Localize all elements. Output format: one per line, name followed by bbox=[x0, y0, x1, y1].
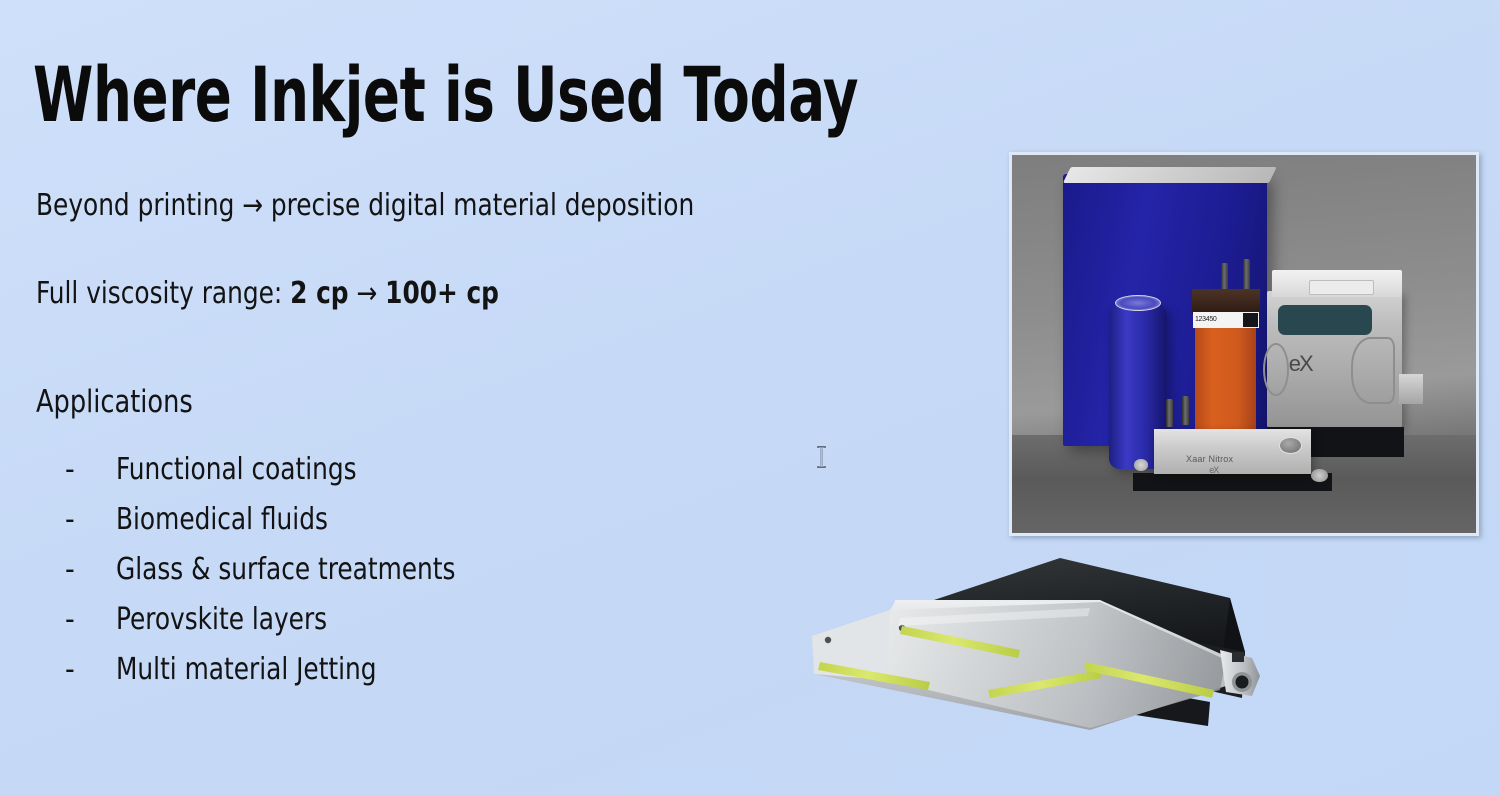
text-cursor-icon bbox=[817, 446, 826, 468]
list-item-label: Glass & surface treatments bbox=[116, 552, 455, 587]
viscosity-max-value: 100+ cp bbox=[385, 276, 499, 311]
bullet-dash: - bbox=[65, 602, 75, 637]
list-item-label: Functional coatings bbox=[116, 452, 357, 487]
viscosity-range-line: Full viscosity range: 2 cp → 100+ cp bbox=[36, 276, 499, 311]
slide-canvas: Where Inkjet is Used Today Beyond printi… bbox=[0, 0, 1500, 795]
printhead-svg bbox=[790, 540, 1300, 775]
viscosity-label: Full viscosity range: bbox=[36, 276, 290, 311]
housing-ex-logo: eX bbox=[1289, 351, 1312, 377]
silver-housing-part: eX bbox=[1267, 291, 1402, 427]
flex-serial-text: 123450 bbox=[1195, 316, 1217, 323]
base-bolt-right bbox=[1311, 469, 1328, 482]
printhead-left-hole bbox=[825, 637, 831, 643]
viscosity-arrow: → bbox=[349, 276, 386, 311]
blue-panel-top-edge bbox=[1063, 167, 1277, 183]
printhead-render bbox=[790, 540, 1300, 775]
nitrox-ex-logo: eX bbox=[1209, 465, 1218, 475]
housing-teal-panel bbox=[1278, 305, 1372, 335]
list-item-label: Perovskite layers bbox=[116, 602, 327, 637]
bullet-dash: - bbox=[65, 502, 75, 537]
product-photo: eX 123450 Xaar Nitrox eX bbox=[1009, 152, 1479, 536]
base-screw bbox=[1182, 396, 1189, 424]
cylinder-rim bbox=[1115, 295, 1161, 311]
applications-heading: Applications bbox=[36, 384, 193, 420]
flex-cap-top bbox=[1192, 289, 1260, 314]
nitrox-fluid-port bbox=[1279, 437, 1302, 454]
housing-arc-right bbox=[1351, 337, 1395, 404]
flex-pin bbox=[1243, 259, 1250, 293]
base-bolt-left bbox=[1134, 459, 1148, 470]
text-cursor bbox=[817, 446, 826, 468]
nitrox-black-base bbox=[1133, 473, 1333, 492]
bullet-dash: - bbox=[65, 552, 75, 587]
viscosity-min-value: 2 cp bbox=[290, 276, 348, 311]
bullet-dash: - bbox=[65, 652, 75, 687]
lead-statement: Beyond printing → precise digital materi… bbox=[36, 188, 694, 223]
nitrox-brand-text: Xaar Nitrox bbox=[1186, 454, 1233, 464]
photo-scene: eX 123450 Xaar Nitrox eX bbox=[1012, 155, 1476, 533]
page-title: Where Inkjet is Used Today bbox=[33, 57, 858, 133]
base-screw bbox=[1166, 399, 1173, 427]
bullet-dash: - bbox=[65, 452, 75, 487]
orange-flex-circuit bbox=[1195, 321, 1255, 446]
housing-arc-left bbox=[1263, 343, 1289, 396]
housing-white-cap bbox=[1309, 280, 1374, 295]
list-item-label: Multi material Jetting bbox=[116, 652, 377, 687]
housing-side-tab bbox=[1399, 374, 1422, 404]
printhead-mounting-lug bbox=[1220, 650, 1260, 696]
list-item-label: Biomedical fluids bbox=[116, 502, 328, 537]
flex-serial-label: 123450 bbox=[1193, 312, 1259, 328]
flex-label-chip bbox=[1243, 313, 1257, 327]
